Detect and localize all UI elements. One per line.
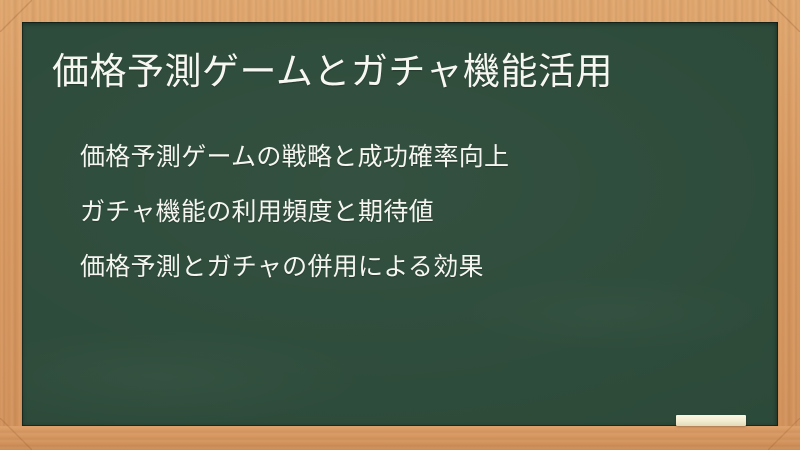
list-item: 価格予測とガチャの併用による効果: [80, 239, 740, 294]
slide-title: 価格予測ゲームとガチャ機能活用: [52, 48, 752, 96]
list-item: ガチャ機能の利用頻度と期待値: [80, 184, 740, 239]
bullet-list: 価格予測ゲームの戦略と成功確率向上 ガチャ機能の利用頻度と期待値 価格予測とガチ…: [80, 129, 740, 294]
chalkboard-slide: 価格予測ゲームとガチャ機能活用 価格予測ゲームの戦略と成功確率向上 ガチャ機能の…: [0, 0, 800, 450]
chalkboard-surface: 価格予測ゲームとガチャ機能活用 価格予測ゲームの戦略と成功確率向上 ガチャ機能の…: [22, 22, 778, 426]
list-item: 価格予測ゲームの戦略と成功確率向上: [80, 129, 740, 184]
chalk-ledge: [0, 426, 800, 450]
chalk-stick-icon: [676, 415, 746, 426]
